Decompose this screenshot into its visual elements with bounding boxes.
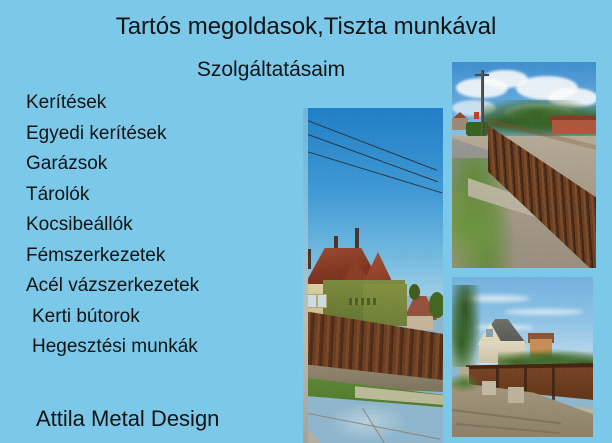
slide-title: Tartós megoldasok,Tiszta munkával [0,12,612,42]
list-item: Kerti bútorok [26,302,296,333]
list-item: Acél vázszerkezetek [26,271,296,302]
tree [429,292,443,318]
photo-left-edge [303,108,308,443]
list-item: Fémszerkezetek [26,241,296,272]
photo-long-fence-street [452,62,596,268]
concrete-block [508,387,524,403]
list-item: Tárolók [26,180,296,211]
services-list: Kerítések Egyedi kerítések Garázsok Táro… [26,88,296,363]
list-item: Garázsok [26,149,296,180]
house-wall [363,284,407,326]
list-item: Hegesztési munkák [26,332,296,363]
photo-fence-construction [452,277,593,437]
road-highlight [327,402,407,442]
red-marker [474,112,479,119]
window [349,298,379,305]
window [317,294,327,308]
distant-building [552,120,596,134]
list-item: Kerítések [26,88,296,119]
slide-canvas: Tartós megoldasok,Tiszta munkával Szolgá… [0,0,612,443]
window [307,294,317,308]
photo-street-house-fence [303,108,443,443]
shrub [452,373,482,393]
utility-pole [481,70,484,140]
cloud [504,309,584,315]
list-item: Egyedi kerítések [26,119,296,150]
tree [409,284,420,300]
tree [452,285,482,367]
hedge [466,122,488,136]
list-item: Kocsibeállók [26,210,296,241]
brand-name: Attila Metal Design [36,404,219,434]
window [486,329,493,337]
neighbor-wall [407,316,433,330]
concrete-block [482,381,496,395]
